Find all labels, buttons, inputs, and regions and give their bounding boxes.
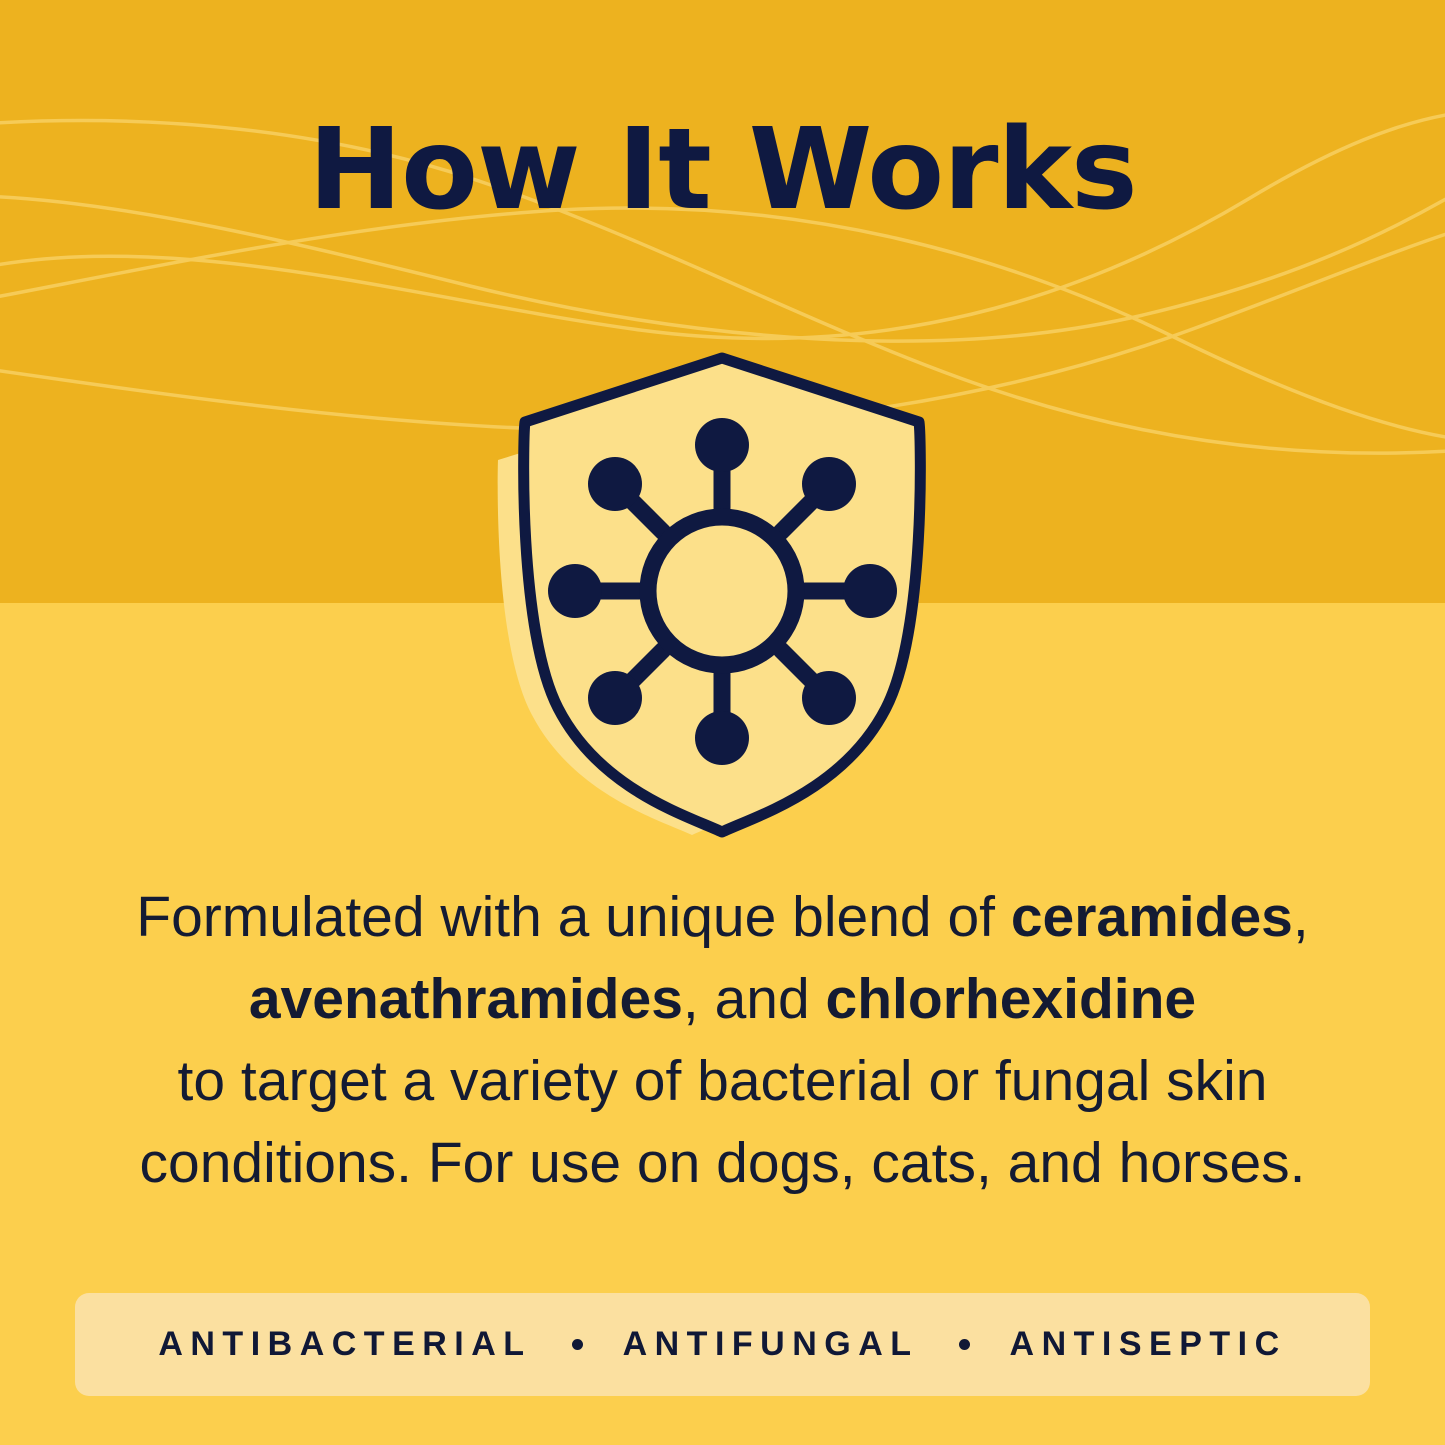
body-text: Formulated with a unique blend of bbox=[136, 885, 1011, 949]
body-text: conditions. For use on dogs, cats, and h… bbox=[140, 1131, 1306, 1195]
claim-label: ANTIFUNGAL bbox=[623, 1325, 919, 1364]
bullet-separator-icon bbox=[572, 1339, 583, 1350]
body-text: to target a variety of bacterial or fung… bbox=[178, 1049, 1268, 1113]
body-line: conditions. For use on dogs, cats, and h… bbox=[120, 1122, 1325, 1204]
claims-badge-bar: ANTIBACTERIALANTIFUNGALANTISEPTIC bbox=[75, 1293, 1370, 1396]
body-text: , bbox=[1293, 885, 1309, 949]
microbe-icon bbox=[548, 418, 897, 765]
body-line: to target a variety of bacterial or fung… bbox=[120, 1040, 1325, 1122]
ingredient-term: avenathramides bbox=[249, 967, 683, 1031]
claim-label: ANTIBACTERIAL bbox=[158, 1325, 531, 1364]
ingredient-term: chlorhexidine bbox=[826, 967, 1197, 1031]
body-text: , and bbox=[683, 967, 826, 1031]
page-title: How It Works bbox=[0, 112, 1445, 230]
body-paragraph: Formulated with a unique blend of cerami… bbox=[120, 876, 1325, 1204]
claims-row: ANTIBACTERIALANTIFUNGALANTISEPTIC bbox=[158, 1325, 1286, 1364]
bullet-separator-icon bbox=[959, 1339, 970, 1350]
shield-icon bbox=[470, 340, 975, 840]
how-it-works-infographic: How It Works bbox=[0, 0, 1445, 1445]
body-line: avenathramides, and chlorhexidine bbox=[120, 958, 1325, 1040]
body-line: Formulated with a unique blend of cerami… bbox=[120, 876, 1325, 958]
ingredient-term: ceramides bbox=[1011, 885, 1293, 949]
claim-label: ANTISEPTIC bbox=[1010, 1325, 1287, 1364]
shield-with-microbe-icon bbox=[470, 340, 975, 840]
microbe-core bbox=[648, 517, 796, 665]
